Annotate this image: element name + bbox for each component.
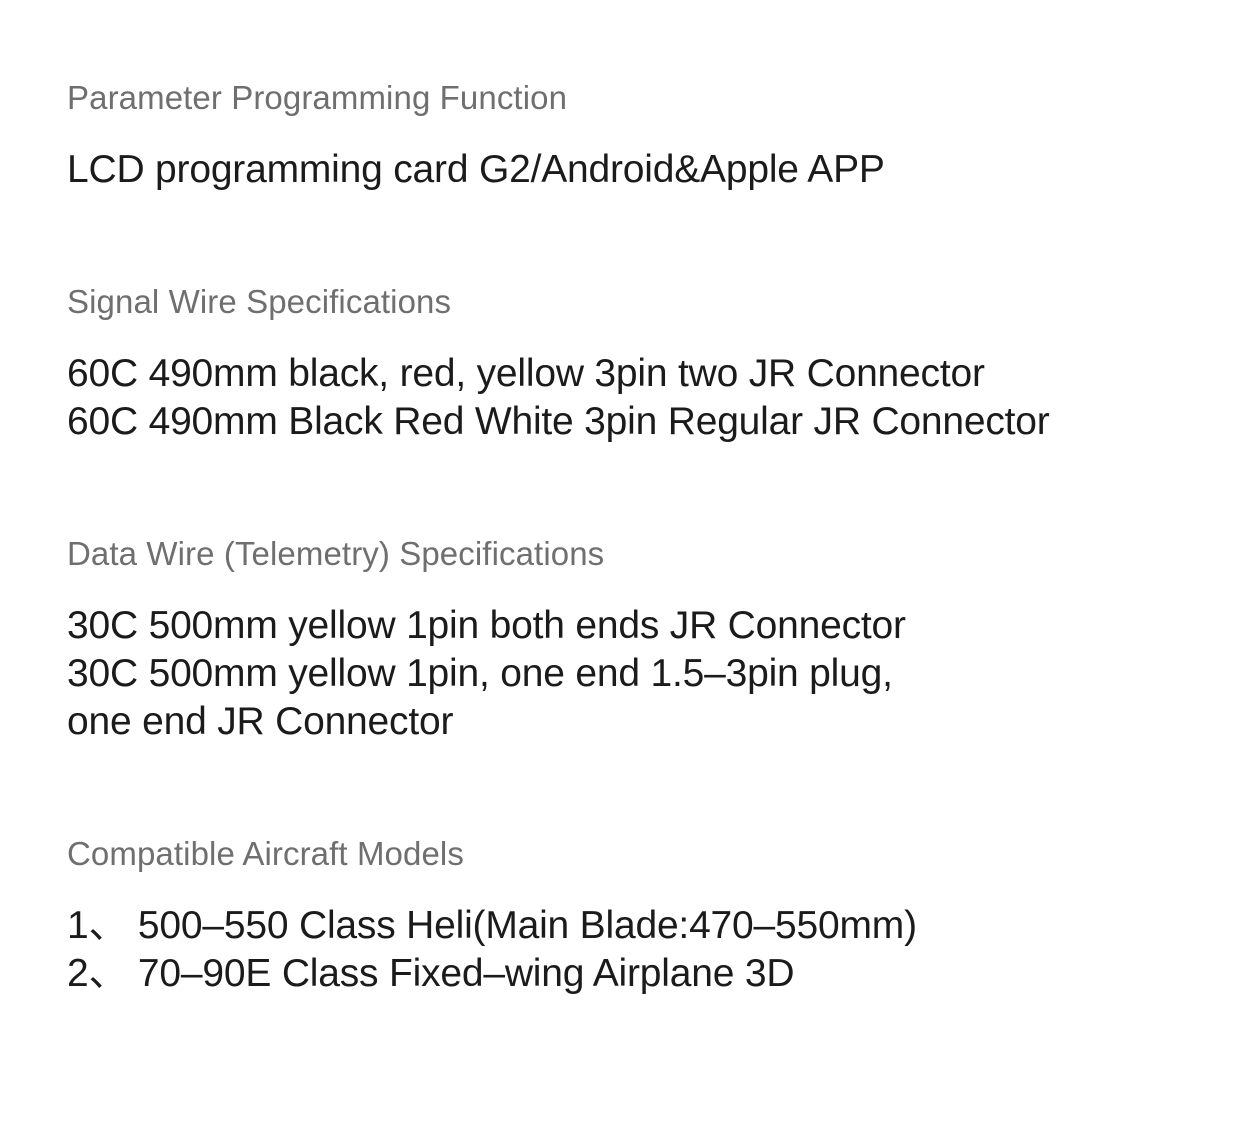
body-line: 2、 70–90E Class Fixed–wing Airplane 3D: [67, 950, 1202, 998]
body-line: 30C 500mm yellow 1pin, one end 1.5–3pin …: [67, 650, 1202, 698]
section-data-wire-telemetry-specifications: Data Wire (Telemetry) Specifications 30C…: [67, 532, 1202, 746]
section-signal-wire-specifications: Signal Wire Specifications 60C 490mm bla…: [67, 280, 1202, 446]
body-line: one end JR Connector: [67, 698, 1202, 746]
section-body: 30C 500mm yellow 1pin both ends JR Conne…: [67, 602, 1202, 746]
section-body: LCD programming card G2/Android&Apple AP…: [67, 146, 1202, 194]
section-heading: Data Wire (Telemetry) Specifications: [67, 532, 1202, 576]
section-heading: Compatible Aircraft Models: [67, 832, 1202, 876]
section-body: 1、 500–550 Class Heli(Main Blade:470–550…: [67, 902, 1202, 998]
body-line: 30C 500mm yellow 1pin both ends JR Conne…: [67, 602, 1202, 650]
body-line: 60C 490mm Black Red White 3pin Regular J…: [67, 398, 1202, 446]
section-parameter-programming-function: Parameter Programming Function LCD progr…: [67, 0, 1202, 194]
body-line: 60C 490mm black, red, yellow 3pin two JR…: [67, 350, 1202, 398]
section-heading: Parameter Programming Function: [67, 76, 1202, 120]
section-compatible-aircraft-models: Compatible Aircraft Models 1、 500–550 Cl…: [67, 832, 1202, 998]
section-heading: Signal Wire Specifications: [67, 280, 1202, 324]
section-body: 60C 490mm black, red, yellow 3pin two JR…: [67, 350, 1202, 446]
body-line: 1、 500–550 Class Heli(Main Blade:470–550…: [67, 902, 1202, 950]
body-line: LCD programming card G2/Android&Apple AP…: [67, 146, 1202, 194]
specification-sheet: Parameter Programming Function LCD progr…: [0, 0, 1242, 1148]
